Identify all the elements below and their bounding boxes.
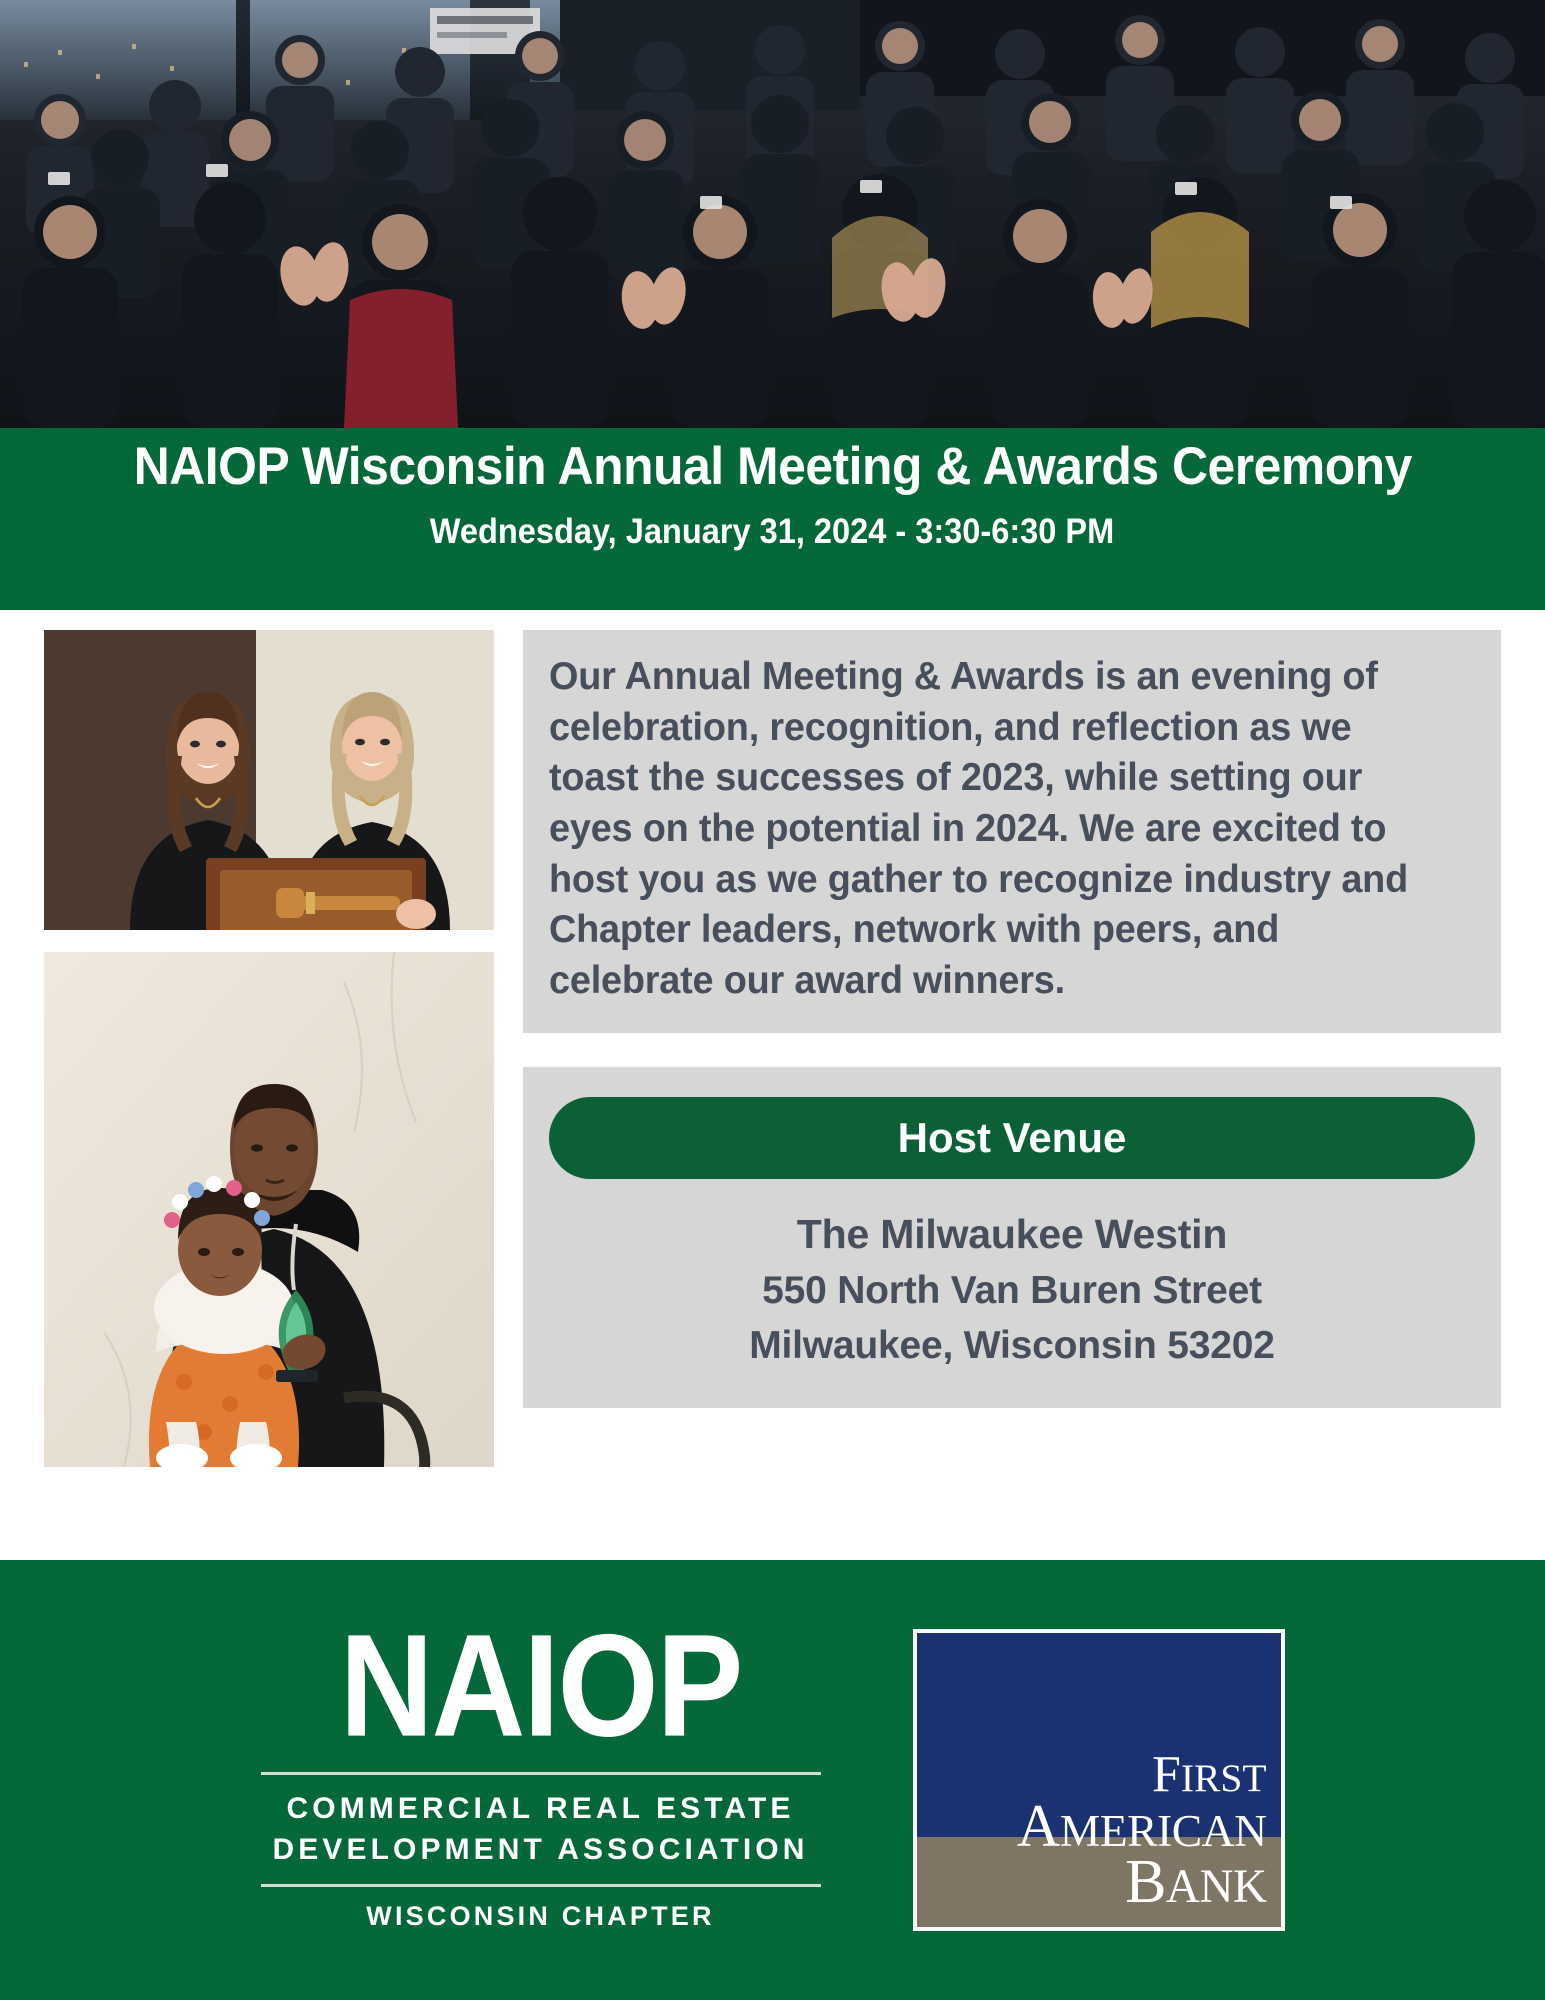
venue-street: 550 North Van Buren Street [549,1263,1475,1318]
naiop-tagline-line2: DEVELOPMENT ASSOCIATION [261,1829,821,1870]
fab-american-cap: A [1017,1793,1060,1859]
fab-first-rest: IRST [1181,1756,1267,1800]
fab-first-cap: F [1152,1746,1181,1803]
venue-panel: Host Venue The Milwaukee Westin 550 Nort… [523,1067,1501,1408]
fab-line-american: AMERICAN [1017,1799,1267,1854]
hero-audience-photo [0,0,1545,428]
text-column: Our Annual Meeting & Awards is an evenin… [523,630,1501,1408]
page-title: NAIOP Wisconsin Annual Meeting & Awards … [133,436,1411,499]
description-panel: Our Annual Meeting & Awards is an evenin… [523,630,1501,1033]
naiop-tagline-line1: COMMERCIAL REAL ESTATE [261,1788,821,1829]
main-content: Our Annual Meeting & Awards is an evenin… [0,610,1545,1560]
fab-bank-cap: B [1125,1848,1166,1916]
award-winners-artwork [44,630,494,930]
host-venue-label: Host Venue [898,1114,1127,1162]
naiop-chapter-label: WISCONSIN CHAPTER [261,1901,821,1932]
venue-address: The Milwaukee Westin 550 North Van Buren… [549,1205,1475,1374]
fab-wordmark: FIRST AMERICAN BANK [1017,1751,1267,1911]
fab-line-first: FIRST [1017,1751,1267,1799]
award-recipient-photo [44,952,494,1467]
hero-photo-artwork [0,0,1545,428]
naiop-divider-bottom [261,1884,821,1887]
event-datetime: Wednesday, January 31, 2024 - 3:30-6:30 … [430,511,1114,553]
first-american-bank-logo: FIRST AMERICAN BANK [913,1629,1285,1931]
footer-logo-band: NAIOP COMMERCIAL REAL ESTATE DEVELOPMENT… [0,1560,1545,2000]
venue-city-state-zip: Milwaukee, Wisconsin 53202 [549,1318,1475,1373]
fab-line-bank: BANK [1017,1854,1267,1911]
naiop-divider-top [261,1772,821,1775]
description-text: Our Annual Meeting & Awards is an evenin… [549,652,1447,1007]
photo-column [44,630,494,1467]
award-winners-photo [44,630,494,930]
title-band: NAIOP Wisconsin Annual Meeting & Awards … [0,428,1545,610]
host-venue-heading: Host Venue [549,1097,1475,1179]
naiop-logo: NAIOP COMMERCIAL REAL ESTATE DEVELOPMENT… [261,1628,821,1933]
event-flyer: NAIOP Wisconsin Annual Meeting & Awards … [0,0,1545,2000]
fab-bank-rest: ANK [1166,1861,1267,1913]
naiop-wordmark: NAIOP [261,1612,821,1758]
venue-name: The Milwaukee Westin [549,1205,1475,1263]
award-recipient-artwork [44,952,494,1467]
